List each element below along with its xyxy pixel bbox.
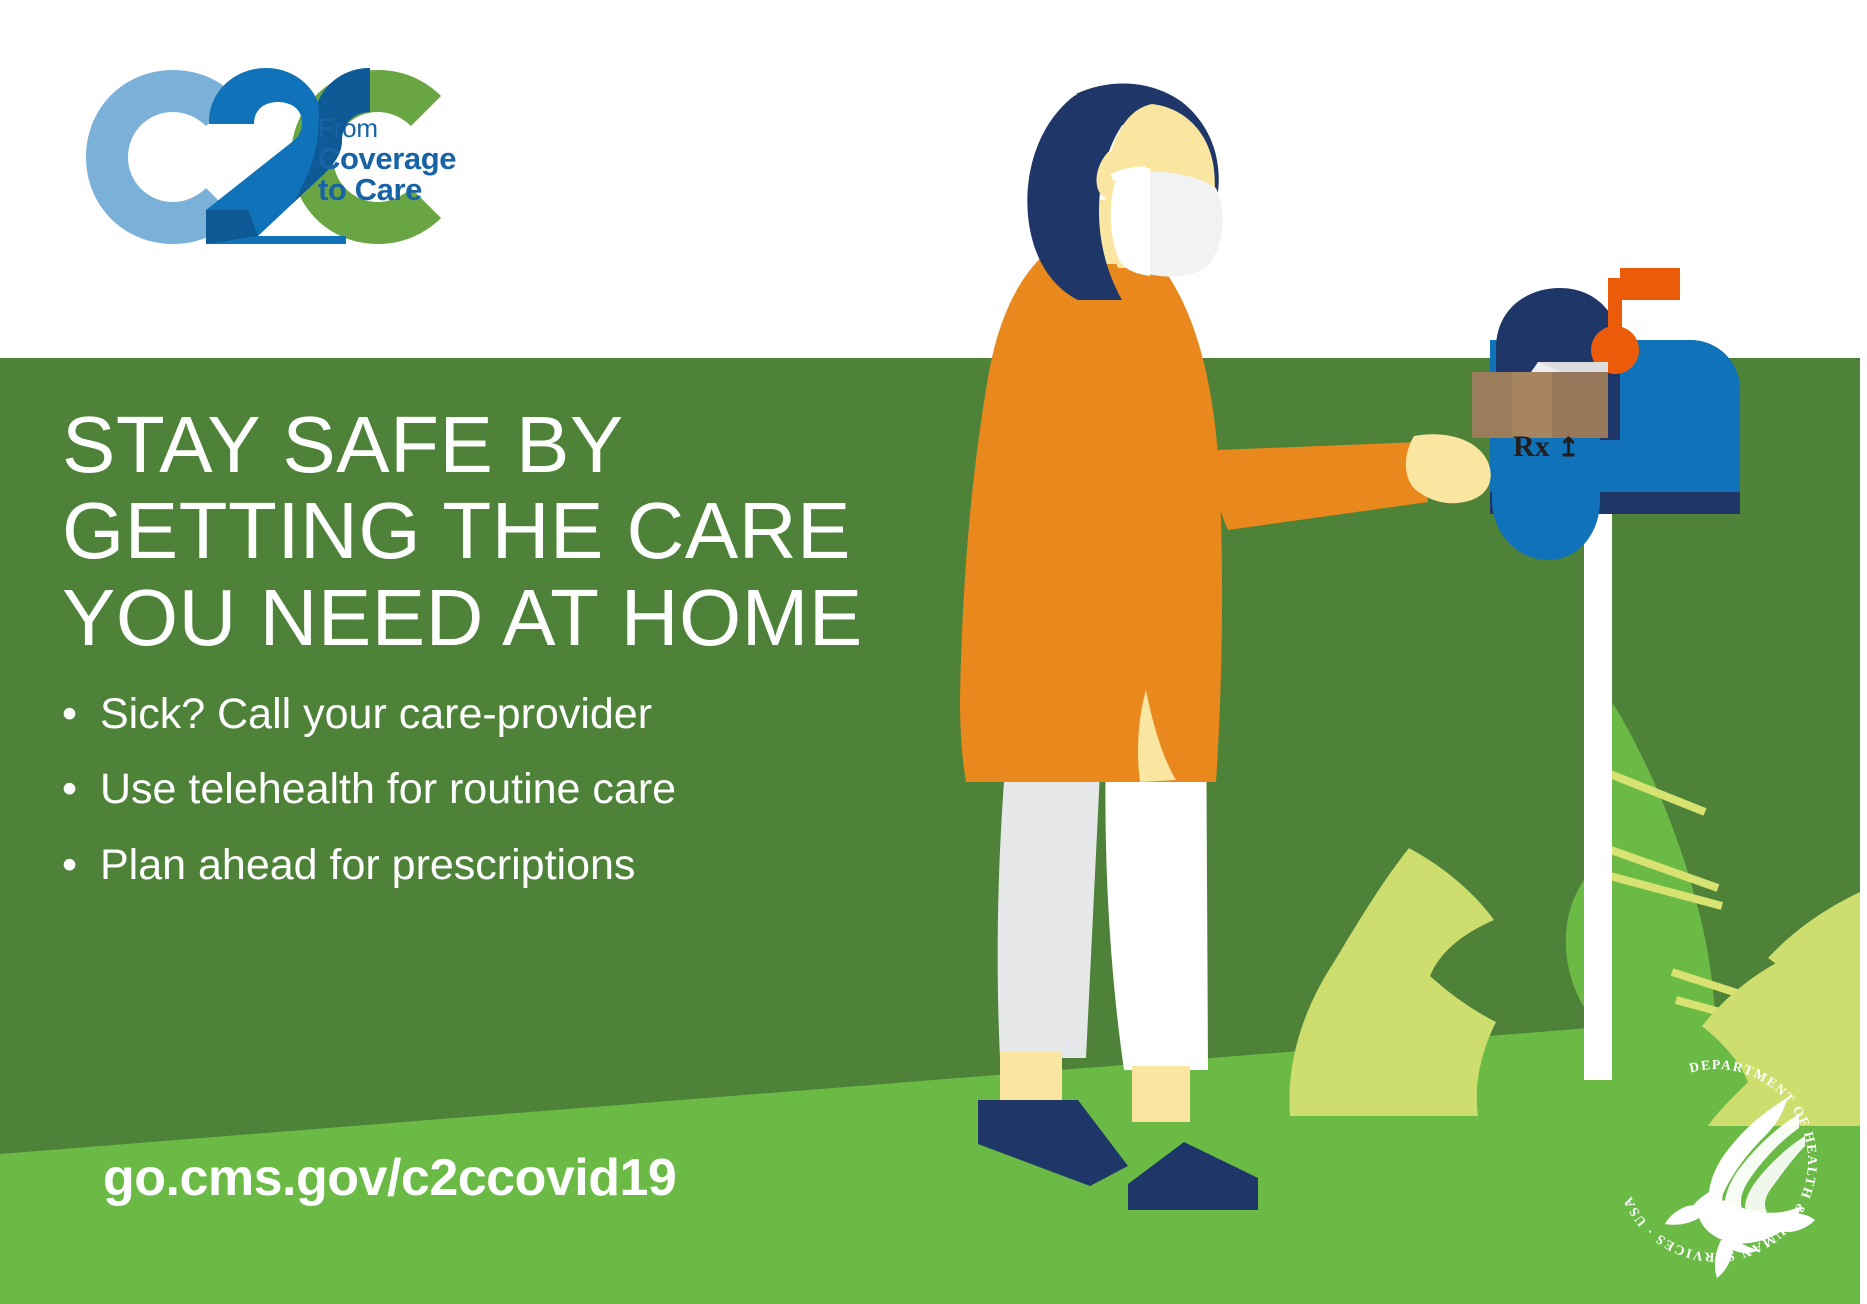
hhs-seal: DEPARTMENT OF HEALTH & HUMAN SERVICES · … bbox=[1591, 1036, 1841, 1286]
bullet-text: Use telehealth for routine care bbox=[100, 765, 676, 814]
campaign-url[interactable]: go.cms.gov/c2ccovid19 bbox=[103, 1148, 676, 1208]
this-side-up-icon: ↥ bbox=[1558, 432, 1580, 462]
bullet-text: Sick? Call your care-provider bbox=[100, 690, 652, 739]
rx-text: Rx bbox=[1513, 430, 1550, 463]
page-title: STAY SAFE BY GETTING THE CARE YOU NEED A… bbox=[62, 402, 863, 661]
list-item: • Sick? Call your care-provider bbox=[62, 690, 862, 739]
ground-hill bbox=[0, 944, 1867, 1304]
list-item: • Use telehealth for routine care bbox=[62, 765, 862, 814]
logo-tagline: From Coverage to Care bbox=[318, 115, 488, 205]
list-item: • Plan ahead for prescriptions bbox=[62, 841, 862, 890]
bullet-marker-icon: • bbox=[62, 841, 100, 890]
logo-tagline-tocare: to Care bbox=[318, 174, 488, 205]
bullet-list: • Sick? Call your care-provider • Use te… bbox=[62, 690, 862, 916]
logo-tagline-from: From bbox=[318, 115, 488, 141]
bullet-marker-icon: • bbox=[62, 765, 100, 814]
bullet-text: Plan ahead for prescriptions bbox=[100, 841, 635, 890]
poster-canvas: Rx↥ From Coverage to Care STAY SAFE BY G… bbox=[0, 0, 1867, 1304]
right-edge-strip bbox=[1860, 0, 1867, 1304]
rx-package-label: Rx↥ bbox=[1513, 430, 1579, 464]
bullet-marker-icon: • bbox=[62, 690, 100, 739]
logo-tagline-coverage: Coverage bbox=[318, 143, 488, 174]
